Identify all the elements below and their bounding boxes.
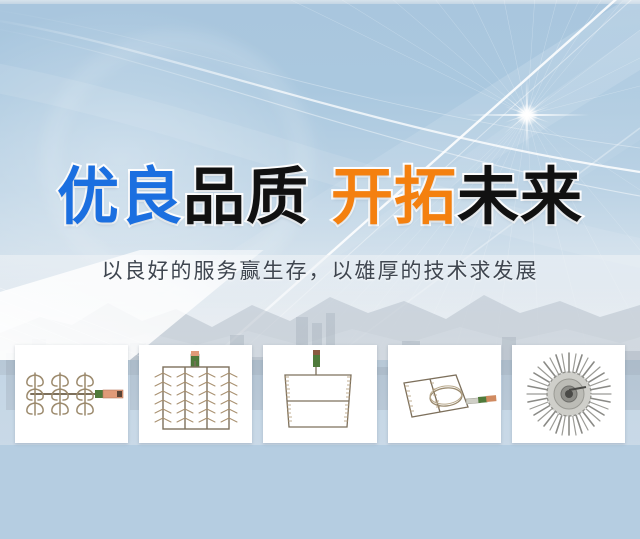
ring-frame-rack-icon [388, 345, 501, 443]
page-title: 优良品质开拓未来 [0, 166, 640, 228]
product-card[interactable] [512, 345, 625, 443]
radial-spike-wheel-icon [512, 345, 625, 443]
product-card[interactable] [139, 345, 252, 443]
subtitle: 以良好的服务赢生存，以雄厚的技术求发展 [0, 258, 640, 285]
product-card[interactable] [263, 345, 376, 443]
double-row-skewer-rack-icon [139, 345, 252, 443]
branched-hook-rack-icon [15, 345, 128, 443]
promo-banner: 优良品质开拓未来 以良好的服务赢生存，以雄厚的技术求发展 [0, 0, 640, 539]
headline-segment-2: 品质 [183, 160, 309, 233]
product-card[interactable] [15, 345, 128, 443]
product-card-strip [15, 345, 625, 443]
headline-segment-3: 开拓 [331, 160, 457, 233]
headline-segment-1: 优良 [57, 160, 183, 233]
flat-ladder-rack-icon [263, 345, 376, 443]
product-card[interactable] [388, 345, 501, 443]
headline-segment-4: 未来 [457, 160, 583, 233]
